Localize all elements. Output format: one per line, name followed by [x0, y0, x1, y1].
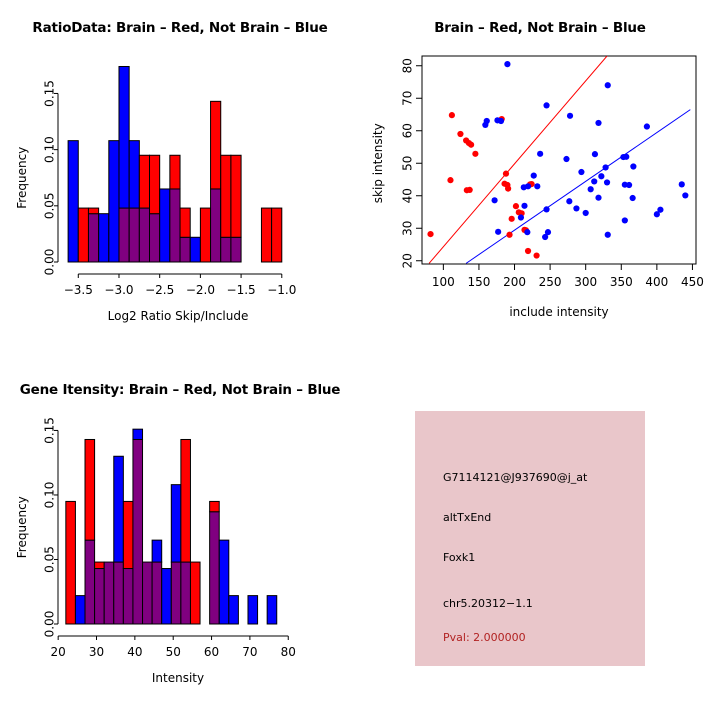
- histogram-bar-not-brain: [114, 456, 124, 562]
- y-axis-tick-label: 60: [401, 123, 415, 138]
- histogram-bar-overlap: [119, 208, 129, 262]
- x-axis-tick-label: −3.0: [104, 283, 133, 297]
- y-axis: 0.000.050.100.15Frequency: [15, 80, 58, 275]
- panel-info: G7114121@J937690@j_at altTxEnd Foxk1 chr…: [360, 360, 720, 720]
- scatter-point: [605, 82, 611, 88]
- histogram-bar-brain: [66, 501, 76, 624]
- scatter-point: [679, 181, 685, 187]
- scatter-point: [644, 123, 650, 129]
- histogram-bar-not-brain: [229, 596, 239, 624]
- histogram-bar-overlap: [171, 562, 181, 624]
- x-axis-tick-label: 100: [432, 275, 455, 289]
- scatter-point: [630, 195, 636, 201]
- y-axis-tick-label: 0.00: [43, 249, 57, 276]
- scatter-point: [525, 248, 531, 254]
- x-axis-tick-label: 150: [467, 275, 490, 289]
- x-axis-tick-label: −1.0: [267, 283, 296, 297]
- scatter-point: [534, 183, 540, 189]
- histogram-bar-not-brain: [99, 214, 109, 262]
- x-axis-tick-label: 50: [166, 645, 181, 659]
- y-axis: 20304050607080skip intensity: [371, 58, 422, 268]
- scatter-point: [566, 198, 572, 204]
- histogram-bar-brain: [261, 208, 271, 262]
- histogram-bar-overlap: [152, 562, 162, 624]
- x-axis-tick-label: 300: [574, 275, 597, 289]
- histogram-bar-brain: [211, 101, 221, 189]
- histogram-bar-not-brain: [133, 429, 143, 439]
- scatter-point: [563, 156, 569, 162]
- x-axis-tick-label: 200: [503, 275, 526, 289]
- histogram-bar-not-brain: [248, 596, 258, 624]
- gene-histogram-plot: 0.000.050.100.15Frequency20304050607080I…: [0, 376, 360, 716]
- scatter-point: [595, 195, 601, 201]
- x-axis-label: Intensity: [152, 671, 204, 685]
- histogram-bar-brain: [150, 155, 160, 213]
- scatter-point: [525, 183, 531, 189]
- panel-ratio-histogram: RatioData: Brain – Red, Not Brain – Blue…: [0, 0, 360, 360]
- histogram-bar-brain: [139, 155, 149, 208]
- scatter-plot: 20304050607080skip intensity100150200250…: [360, 14, 720, 354]
- histogram-bar-not-brain: [129, 141, 139, 208]
- y-axis-tick-label: 0.10: [43, 482, 57, 509]
- scatter-point: [583, 210, 589, 216]
- histogram-bar-not-brain: [190, 237, 200, 262]
- scatter-point: [630, 163, 636, 169]
- y-axis: 0.000.050.100.15Frequency: [15, 417, 58, 637]
- histogram-bar-not-brain: [75, 596, 85, 624]
- scatter-point: [504, 61, 510, 67]
- histogram-bar-overlap: [231, 237, 241, 262]
- histogram-bar-overlap: [170, 189, 180, 262]
- x-axis-tick-label: 30: [89, 645, 104, 659]
- histogram-bar-brain: [181, 439, 191, 562]
- histogram-bar-brain: [190, 562, 200, 624]
- plot-frame: [422, 56, 696, 264]
- scatter-point: [518, 214, 524, 220]
- x-axis-tick-label: 400: [645, 275, 668, 289]
- x-axis-tick-label: −2.5: [145, 283, 174, 297]
- histogram-bar-overlap: [104, 562, 114, 624]
- histogram-bar-not-brain: [267, 596, 277, 624]
- scatter-point: [505, 186, 511, 192]
- scatter-point: [682, 192, 688, 198]
- panel-gene-histogram: Gene Itensity: Brain – Red, Not Brain – …: [0, 360, 360, 720]
- x-axis-tick-label: 70: [242, 645, 257, 659]
- scatter-point: [573, 205, 579, 211]
- scatter-point: [491, 197, 497, 203]
- scatter-content: [427, 56, 690, 263]
- histogram-bar-overlap: [143, 562, 153, 624]
- x-axis-tick-label: 60: [204, 645, 219, 659]
- y-axis-tick-label: 0.00: [43, 611, 57, 638]
- scatter-point: [604, 179, 610, 185]
- scatter-point: [531, 173, 537, 179]
- scatter-point: [503, 171, 509, 177]
- histogram-bar-overlap: [139, 208, 149, 262]
- histogram-bar-brain: [200, 208, 210, 262]
- scatter-point: [498, 118, 504, 124]
- x-axis-tick-label: 20: [51, 645, 66, 659]
- histogram-bar-overlap: [114, 562, 124, 624]
- probe-id-text: G7114121@J937690@j_at: [443, 471, 587, 484]
- pval-text: Pval: 2.000000: [443, 631, 526, 644]
- info-panel-box: G7114121@J937690@j_at altTxEnd Foxk1 chr…: [415, 411, 645, 666]
- scatter-point: [524, 229, 530, 235]
- gene-symbol-text: Foxk1: [443, 551, 475, 564]
- scatter-point: [598, 173, 604, 179]
- histogram-bar-overlap: [123, 569, 133, 624]
- scatter-point: [622, 217, 628, 223]
- histogram-bar-overlap: [211, 189, 221, 262]
- y-axis-tick-label: 30: [401, 221, 415, 236]
- histogram-bar-not-brain: [68, 141, 78, 262]
- histogram-bar-brain: [85, 439, 95, 540]
- y-axis-tick-label: 70: [401, 91, 415, 106]
- y-axis-label: Frequency: [15, 496, 29, 558]
- x-axis-tick-label: −3.5: [64, 283, 93, 297]
- event-type-text: altTxEnd: [443, 511, 491, 524]
- brain-fit-line: [429, 56, 607, 263]
- y-axis-tick-label: 80: [401, 58, 415, 73]
- scatter-point: [543, 102, 549, 108]
- scatter-point: [623, 154, 629, 160]
- histogram-bar-overlap: [150, 214, 160, 262]
- scatter-points-not-brain: [482, 61, 688, 240]
- x-axis-label: Log2 Ratio Skip/Include: [108, 309, 249, 323]
- y-axis-tick-label: 20: [401, 253, 415, 268]
- histogram-bar-overlap: [133, 439, 143, 624]
- histogram-bar-not-brain: [160, 189, 170, 262]
- scatter-point: [484, 118, 490, 124]
- histogram-bar-brain: [231, 155, 241, 237]
- scatter-point: [578, 169, 584, 175]
- scatter-point: [543, 206, 549, 212]
- x-axis-tick-label: −2.0: [186, 283, 215, 297]
- figure-canvas: RatioData: Brain – Red, Not Brain – Blue…: [0, 0, 720, 720]
- y-axis-tick-label: 0.15: [43, 80, 57, 107]
- histogram-bar-brain: [123, 501, 133, 568]
- scatter-point: [545, 229, 551, 235]
- scatter-point: [603, 164, 609, 170]
- scatter-point: [657, 207, 663, 213]
- plot-area: 0.000.050.100.15Frequency20304050607080I…: [15, 417, 296, 685]
- histogram-bar-not-brain: [152, 540, 162, 562]
- histogram-bar-overlap: [88, 214, 98, 262]
- scatter-point: [591, 178, 597, 184]
- scatter-point: [595, 120, 601, 126]
- y-axis-label: skip intensity: [371, 123, 385, 203]
- scatter-point: [509, 216, 515, 222]
- ratio-histogram-plot: 0.000.050.100.15Frequency−3.5−3.0−2.5−2.…: [0, 14, 360, 354]
- scatter-point: [467, 187, 473, 193]
- y-axis-tick-label: 40: [401, 188, 415, 203]
- histogram-bar-overlap: [221, 237, 231, 262]
- histogram-bar-overlap: [210, 512, 220, 624]
- scatter-point: [495, 229, 501, 235]
- x-axis-tick-label: 80: [281, 645, 296, 659]
- histogram-bar-overlap: [95, 569, 105, 624]
- plot-area: 0.000.050.100.15Frequency−3.5−3.0−2.5−2.…: [15, 66, 296, 323]
- x-axis-tick-label: 350: [610, 275, 633, 289]
- histogram-bar-not-brain: [171, 485, 181, 562]
- histogram-bar-brain: [78, 208, 88, 262]
- scatter-point: [605, 232, 611, 238]
- histogram-bar-not-brain: [119, 66, 129, 208]
- scatter-point: [427, 231, 433, 237]
- y-axis-tick-label: 0.05: [43, 192, 57, 219]
- histogram-bar-brain: [210, 501, 220, 511]
- y-axis-tick-label: 0.10: [43, 136, 57, 163]
- y-axis-tick-label: 50: [401, 156, 415, 171]
- scatter-point: [472, 151, 478, 157]
- not-brain-fit-line: [466, 110, 690, 264]
- histogram-bar-not-brain: [219, 540, 229, 624]
- plot-area: 20304050607080skip intensity100150200250…: [371, 56, 704, 319]
- histogram-bar-brain: [180, 208, 190, 237]
- histogram-bar-brain: [88, 208, 98, 214]
- histogram-bar-overlap: [85, 540, 95, 624]
- histogram-bar-overlap: [129, 208, 139, 262]
- histogram-bars: [66, 429, 277, 624]
- x-axis-tick-label: 250: [539, 275, 562, 289]
- scatter-point: [447, 177, 453, 183]
- histogram-bar-brain: [221, 155, 231, 237]
- scatter-point: [626, 182, 632, 188]
- y-axis-tick-label: 0.15: [43, 417, 57, 444]
- y-axis-tick-label: 0.05: [43, 546, 57, 573]
- scatter-point: [588, 186, 594, 192]
- x-axis-label: include intensity: [509, 305, 608, 319]
- scatter-point: [457, 131, 463, 137]
- scatter-point: [592, 151, 598, 157]
- histogram-bar-not-brain: [109, 141, 119, 262]
- histogram-bar-brain: [95, 562, 105, 568]
- histogram-bar-overlap: [181, 562, 191, 624]
- scatter-point: [513, 203, 519, 209]
- x-axis-tick-label: −1.5: [227, 283, 256, 297]
- histogram-bar-not-brain: [162, 569, 172, 624]
- x-axis: −3.5−3.0−2.5−2.0−1.5−1.0Log2 Ratio Skip/…: [64, 274, 297, 323]
- scatter-point: [567, 113, 573, 119]
- scatter-point: [521, 203, 527, 209]
- panel-scatter: Brain – Red, Not Brain – Blue 2030405060…: [360, 0, 720, 360]
- x-axis: 20304050607080Intensity: [51, 636, 296, 685]
- scatter-point: [537, 151, 543, 157]
- scatter-point: [449, 112, 455, 118]
- histogram-bar-brain: [272, 208, 282, 262]
- x-axis: 100150200250300350400450include intensit…: [432, 264, 704, 319]
- histogram-bar-overlap: [180, 237, 190, 262]
- x-axis-tick-label: 40: [127, 645, 142, 659]
- scatter-point: [506, 232, 512, 238]
- locus-text: chr5.20312−1.1: [443, 597, 533, 610]
- histogram-bar-brain: [170, 155, 180, 189]
- y-axis-label: Frequency: [15, 147, 29, 209]
- scatter-point: [468, 142, 474, 148]
- scatter-point: [533, 252, 539, 258]
- histogram-bars: [68, 66, 282, 262]
- x-axis-tick-label: 450: [681, 275, 704, 289]
